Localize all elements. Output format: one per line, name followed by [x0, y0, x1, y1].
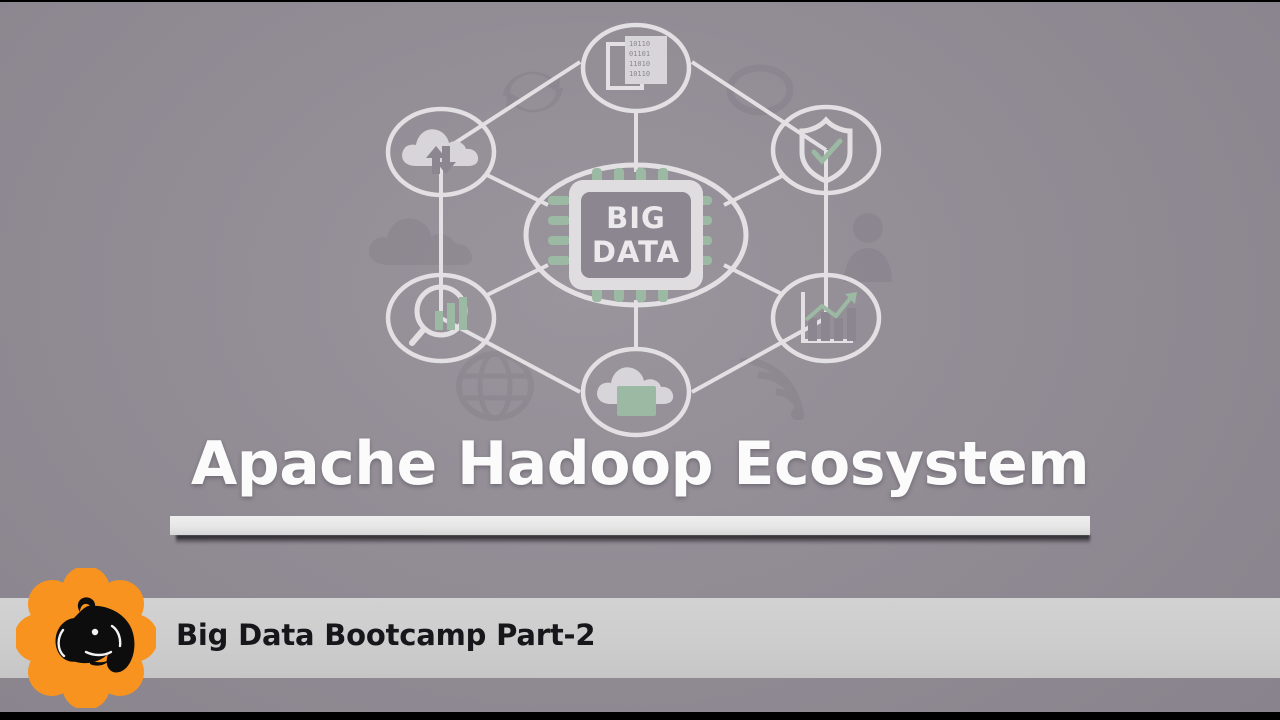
page-title: Apache Hadoop Ecosystem — [0, 428, 1280, 500]
diagram-node-cloud-storage — [583, 349, 689, 435]
growth-chart-icon — [803, 292, 857, 341]
binary-document-icon: 10110 01101 11010 10110 — [608, 36, 667, 88]
letterbox-bottom — [0, 712, 1280, 720]
svg-text:10110: 10110 — [629, 70, 650, 78]
svg-text:01101: 01101 — [629, 50, 650, 58]
title-underline-shadow — [176, 535, 1090, 544]
elephant-eye — [92, 629, 98, 635]
footer-label: Big Data Bootcamp Part-2 — [176, 618, 595, 652]
svg-text:11010: 11010 — [629, 60, 650, 68]
title-underline — [170, 516, 1090, 544]
center-label-line2: DATA — [592, 235, 680, 269]
letterbox-top — [0, 0, 1280, 2]
cloud-storage-icon — [597, 367, 673, 416]
diagram-center-node: BIG DATA — [526, 165, 746, 305]
hadoop-elephant-logo — [16, 568, 156, 708]
title-block: Apache Hadoop Ecosystem — [0, 428, 1280, 500]
presentation-slide: BIG DATA 10110 01101 11010 10110 — [0, 0, 1280, 720]
big-data-ecosystem-diagram: BIG DATA 10110 01101 11010 10110 — [0, 0, 1280, 440]
title-underline-bar — [170, 516, 1090, 535]
svg-text:10110: 10110 — [629, 40, 650, 48]
center-label-line1: BIG — [606, 201, 666, 235]
diagram-node-magnifier-chart — [388, 275, 494, 361]
footer-bar: Big Data Bootcamp Part-2 — [0, 598, 1280, 678]
diagram-node-binary-document: 10110 01101 11010 10110 — [583, 25, 689, 111]
